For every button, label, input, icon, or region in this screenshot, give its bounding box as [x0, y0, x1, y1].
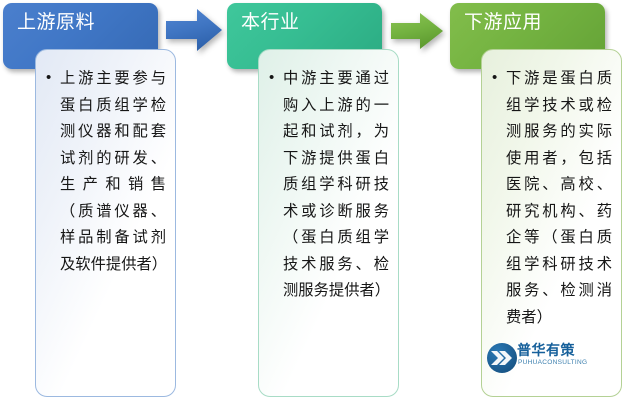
bullet-item: 上游主要参与蛋白质组学检测仪器和配套试剂的研发、生产和销售（质谱仪器、样品制备试…	[60, 66, 166, 278]
content-card-industry: 中游主要通过购入上游的一起和试剂，为下游提供蛋白质组学科研技术或诊断服务（蛋白质…	[258, 49, 399, 397]
bullet-item: 中游主要通过购入上游的一起和试剂，为下游提供蛋白质组学科研技术或诊断服务（蛋白质…	[283, 66, 389, 305]
bullet-list-upstream: 上游主要参与蛋白质组学检测仪器和配套试剂的研发、生产和销售（质谱仪器、样品制备试…	[36, 50, 175, 286]
header-label-upstream: 上游原料	[17, 11, 95, 35]
content-card-upstream: 上游主要参与蛋白质组学检测仪器和配套试剂的研发、生产和销售（质谱仪器、样品制备试…	[35, 49, 176, 397]
bullet-list-downstream: 下游是蛋白质组学技术或检测服务的实际使用者，包括医院、高校、研究机构、药企等（蛋…	[482, 50, 621, 339]
bullet-list-industry: 中游主要通过购入上游的一起和试剂，为下游提供蛋白质组学科研技术或诊断服务（蛋白质…	[259, 50, 398, 313]
header-label-downstream: 下游应用	[464, 11, 542, 35]
header-label-industry: 本行业	[241, 11, 300, 35]
bullet-item: 下游是蛋白质组学技术或检测服务的实际使用者，包括医院、高校、研究机构、药企等（蛋…	[506, 66, 612, 331]
right-arrow-icon-upstream-to-industry	[166, 8, 222, 52]
content-card-downstream: 下游是蛋白质组学技术或检测服务的实际使用者，包括医院、高校、研究机构、药企等（蛋…	[481, 49, 622, 397]
right-arrow-icon-industry-to-downstream	[391, 12, 443, 50]
value-chain-diagram: 上游原料 本行业 下游应用 上游主要参与蛋白质组学检测仪	[0, 0, 623, 405]
